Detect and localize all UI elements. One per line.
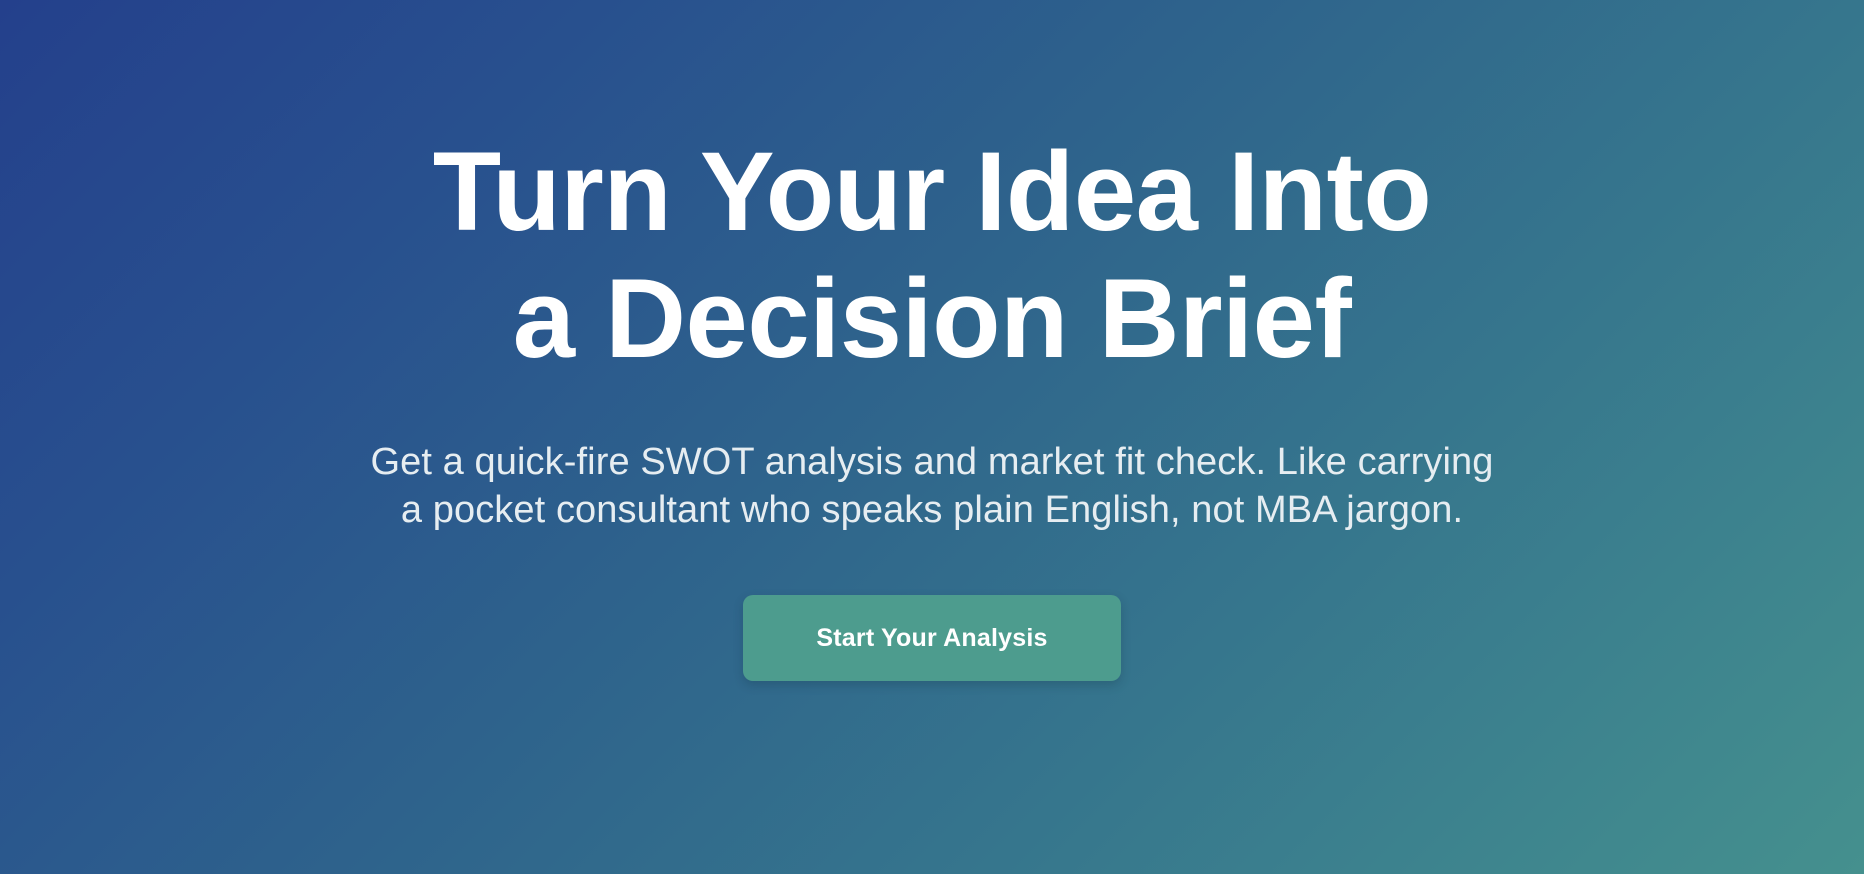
hero-content: Turn Your Idea Into a Decision Brief Get… <box>232 0 1632 681</box>
hero-section: Turn Your Idea Into a Decision Brief Get… <box>0 0 1864 874</box>
hero-subtitle: Get a quick-fire SWOT analysis and marke… <box>362 438 1502 534</box>
start-analysis-button[interactable]: Start Your Analysis <box>743 595 1121 681</box>
page-title: Turn Your Idea Into a Decision Brief <box>432 128 1432 382</box>
